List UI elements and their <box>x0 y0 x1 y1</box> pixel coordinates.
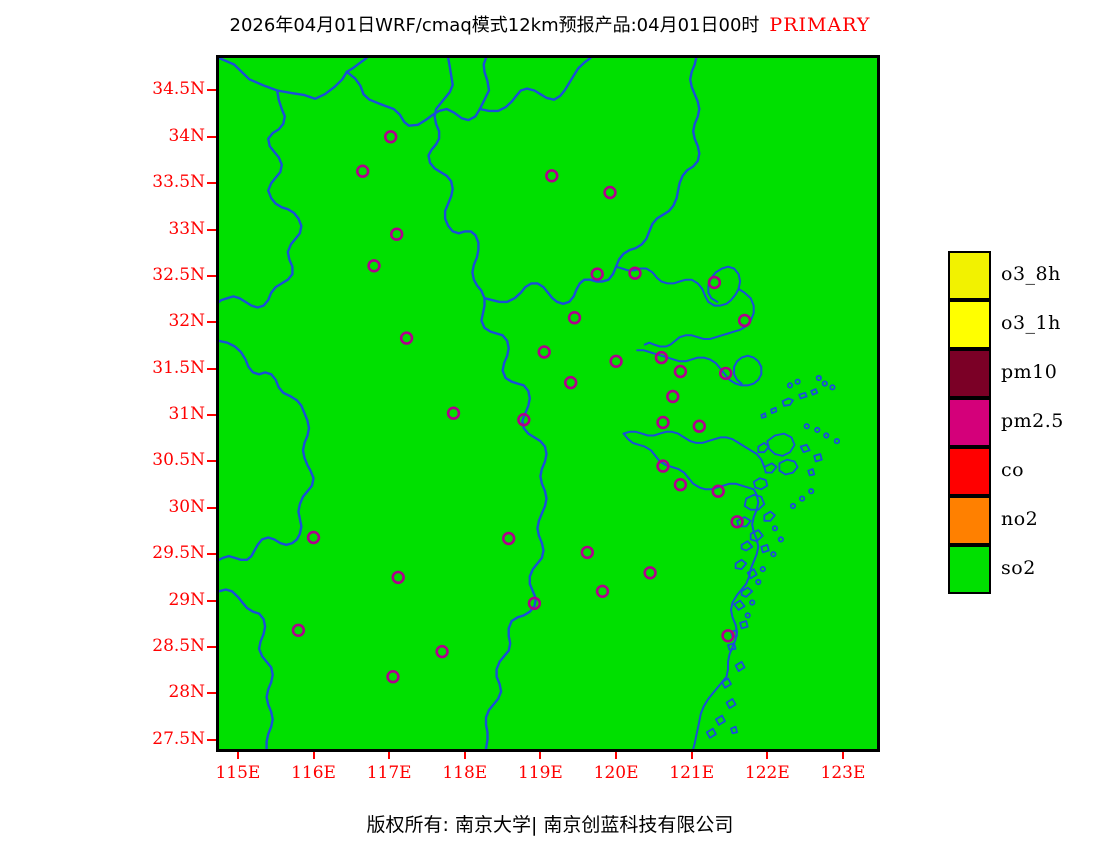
x-tick-label: 122E <box>732 763 802 783</box>
title-text: 2026年04月01日WRF/cmaq模式12km预报产品:04月01日00时 <box>230 15 760 36</box>
station-marker[interactable] <box>675 479 686 490</box>
legend-label: co <box>1001 459 1024 481</box>
station-marker[interactable] <box>401 333 412 344</box>
province-boundaries <box>219 58 699 749</box>
station-marker[interactable] <box>293 625 304 636</box>
legend-swatch <box>948 447 991 496</box>
station-marker[interactable] <box>739 315 750 326</box>
y-tick-label: 32N <box>125 311 205 331</box>
station-marker[interactable] <box>388 671 399 682</box>
station-marker[interactable] <box>357 166 368 177</box>
x-tick-label: 118E <box>430 763 500 783</box>
copyright-footer: 版权所有: 南京大学| 南京创蓝科技有限公司 <box>0 810 1100 837</box>
map-vector-layer <box>219 58 877 749</box>
y-tick-label: 31.5N <box>125 358 205 378</box>
station-marker[interactable] <box>611 356 622 367</box>
station-marker[interactable] <box>592 269 603 280</box>
islands <box>707 376 839 738</box>
station-marker[interactable] <box>546 170 557 181</box>
y-tick-label: 31N <box>125 404 205 424</box>
station-marker[interactable] <box>605 187 616 198</box>
map-canvas[interactable] <box>216 55 880 752</box>
station-marker[interactable] <box>565 377 576 388</box>
x-tick-label: 117E <box>354 763 424 783</box>
station-marker[interactable] <box>667 391 678 402</box>
legend-swatch <box>948 496 991 545</box>
station-marker[interactable] <box>569 312 580 323</box>
station-marker[interactable] <box>675 366 686 377</box>
y-tick-label: 34.5N <box>125 79 205 99</box>
station-marker[interactable] <box>645 567 656 578</box>
y-tick-label: 33N <box>125 219 205 239</box>
legend-label: pm10 <box>1001 361 1057 383</box>
x-tick-label: 123E <box>808 763 878 783</box>
y-tick-label: 28.5N <box>125 636 205 656</box>
legend-swatch <box>948 398 991 447</box>
x-tick-label: 115E <box>203 763 273 783</box>
x-tick-label: 120E <box>581 763 651 783</box>
y-tick-label: 32.5N <box>125 265 205 285</box>
x-tick-label: 116E <box>279 763 349 783</box>
station-marker[interactable] <box>597 586 608 597</box>
station-marker[interactable] <box>694 421 705 432</box>
y-tick-label: 29N <box>125 590 205 610</box>
y-tick-label: 28N <box>125 682 205 702</box>
y-tick-label: 33.5N <box>125 172 205 192</box>
station-marker[interactable] <box>308 532 319 543</box>
station-marker[interactable] <box>369 260 380 271</box>
y-tick-label: 29.5N <box>125 543 205 563</box>
legend-label: pm2.5 <box>1001 410 1064 432</box>
legend-swatch <box>948 545 991 594</box>
station-marker[interactable] <box>658 417 669 428</box>
y-tick-label: 27.5N <box>125 729 205 749</box>
coastline <box>616 267 764 749</box>
legend-label: so2 <box>1001 557 1036 579</box>
legend-swatch <box>948 349 991 398</box>
station-marker[interactable] <box>582 547 593 558</box>
station-marker[interactable] <box>503 533 514 544</box>
y-tick-label: 34N <box>125 126 205 146</box>
legend-label: no2 <box>1001 508 1038 530</box>
legend-label: o3_1h <box>1001 312 1061 334</box>
legend-label: o3_8h <box>1001 263 1061 285</box>
page-title: 2026年04月01日WRF/cmaq模式12km预报产品:04月01日00时P… <box>0 11 1100 37</box>
y-tick-label: 30.5N <box>125 450 205 470</box>
station-marker[interactable] <box>448 408 459 419</box>
station-marker[interactable] <box>720 368 731 379</box>
station-markers[interactable] <box>293 131 750 682</box>
y-tick-label: 30N <box>125 497 205 517</box>
station-marker[interactable] <box>391 229 402 240</box>
primary-label: PRIMARY <box>769 14 870 36</box>
legend-swatch <box>948 251 991 300</box>
station-marker[interactable] <box>437 646 448 657</box>
station-marker[interactable] <box>709 277 720 288</box>
x-tick-label: 121E <box>657 763 727 783</box>
station-marker[interactable] <box>385 131 396 142</box>
x-tick-label: 119E <box>505 763 575 783</box>
station-marker[interactable] <box>539 347 550 358</box>
legend-swatch <box>948 300 991 349</box>
station-marker[interactable] <box>393 572 404 583</box>
